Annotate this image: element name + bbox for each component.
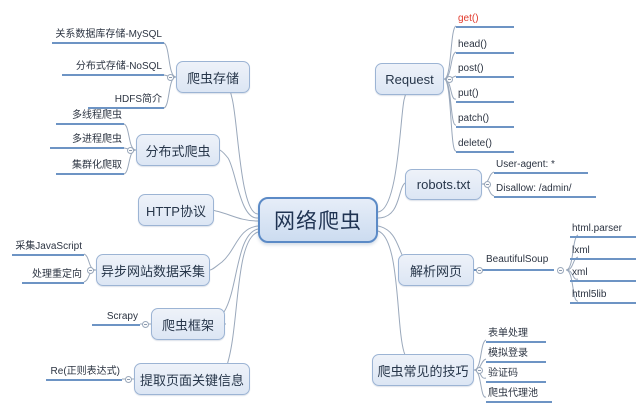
leaf-html-parser[interactable]: html.parser bbox=[570, 224, 636, 238]
mindmap-canvas: 网络爬虫 爬虫存储 关系数据库存储-MySQL 分布式存储-NoSQL HDFS… bbox=[0, 0, 640, 419]
leaf-get-method[interactable]: get() bbox=[456, 14, 514, 28]
collapse-handle-icon[interactable] bbox=[446, 76, 453, 83]
center-node-label: 网络爬虫 bbox=[274, 205, 362, 235]
branch-node-robots-txt[interactable]: robots.txt bbox=[405, 169, 482, 200]
branch-label: 解析网页 bbox=[410, 261, 462, 280]
leaf-delete-method[interactable]: delete() bbox=[456, 139, 514, 153]
leaf-cluster-crawling[interactable]: 集群化爬取 bbox=[56, 161, 124, 175]
collapse-handle-icon[interactable] bbox=[484, 181, 491, 188]
leaf-xml[interactable]: xml bbox=[570, 268, 636, 282]
collapse-handle-icon[interactable] bbox=[125, 376, 132, 383]
collapse-handle-icon[interactable] bbox=[142, 321, 149, 328]
collapse-handle-icon[interactable] bbox=[127, 147, 134, 154]
leaf-post-method[interactable]: post() bbox=[456, 64, 514, 78]
branch-label: 爬虫框架 bbox=[162, 315, 214, 334]
leaf-simulated-login[interactable]: 模拟登录 bbox=[486, 349, 546, 363]
leaf-put-method[interactable]: put() bbox=[456, 89, 514, 103]
branch-label: Request bbox=[385, 72, 433, 87]
collapse-handle-icon[interactable] bbox=[167, 74, 174, 81]
collapse-handle-icon[interactable] bbox=[87, 267, 94, 274]
leaf-scrapy[interactable]: Scrapy bbox=[92, 312, 140, 326]
branch-label: 异步网站数据采集 bbox=[101, 261, 205, 280]
branch-label: 爬虫存储 bbox=[187, 68, 239, 87]
collapse-handle-icon[interactable] bbox=[476, 267, 483, 274]
branch-node-extract-key-info[interactable]: 提取页面关键信息 bbox=[134, 363, 250, 395]
branch-label: HTTP协议 bbox=[146, 201, 206, 220]
collapse-handle-icon[interactable] bbox=[557, 267, 564, 274]
center-node[interactable]: 网络爬虫 bbox=[258, 197, 378, 243]
branch-label: robots.txt bbox=[417, 177, 470, 192]
branch-label: 分布式爬虫 bbox=[145, 141, 210, 160]
branch-node-request[interactable]: Request bbox=[375, 63, 444, 95]
branch-node-crawler-storage[interactable]: 爬虫存储 bbox=[176, 61, 250, 93]
leaf-hdfs-intro[interactable]: HDFS简介 bbox=[88, 95, 164, 109]
leaf-multiprocess-crawler[interactable]: 多进程爬虫 bbox=[50, 135, 124, 149]
branch-node-crawler-framework[interactable]: 爬虫框架 bbox=[151, 308, 225, 340]
branch-label: 提取页面关键信息 bbox=[140, 370, 244, 389]
branch-node-common-techniques[interactable]: 爬虫常见的技巧 bbox=[372, 354, 474, 386]
leaf-disallow[interactable]: Disallow: /admin/ bbox=[494, 184, 596, 198]
branch-node-http-protocol[interactable]: HTTP协议 bbox=[138, 194, 214, 226]
leaf-patch-method[interactable]: patch() bbox=[456, 114, 514, 128]
collapse-handle-icon[interactable] bbox=[476, 367, 483, 374]
leaf-proxy-pool[interactable]: 爬虫代理池 bbox=[486, 389, 552, 403]
leaf-lxml[interactable]: lxml bbox=[570, 246, 636, 260]
leaf-nosql-storage[interactable]: 分布式存储-NoSQL bbox=[62, 62, 164, 76]
branch-node-distributed-crawler[interactable]: 分布式爬虫 bbox=[136, 134, 220, 166]
leaf-mysql-storage[interactable]: 关系数据库存储-MySQL bbox=[52, 30, 164, 44]
leaf-head-method[interactable]: head() bbox=[456, 40, 514, 54]
leaf-multithread-crawler[interactable]: 多线程爬虫 bbox=[56, 111, 124, 125]
leaf-handle-redirect[interactable]: 处理重定向 bbox=[22, 270, 84, 284]
leaf-collect-javascript[interactable]: 采集JavaScript bbox=[12, 242, 84, 256]
leaf-captcha[interactable]: 验证码 bbox=[486, 369, 546, 383]
branch-node-parse-webpage[interactable]: 解析网页 bbox=[398, 254, 474, 286]
leaf-form-handling[interactable]: 表单处理 bbox=[486, 329, 546, 343]
label-beautifulsoup[interactable]: BeautifulSoup bbox=[486, 254, 548, 265]
branch-node-async-site-scraping[interactable]: 异步网站数据采集 bbox=[96, 254, 210, 286]
leaf-html5lib[interactable]: html5lib bbox=[570, 290, 636, 304]
leaf-regex[interactable]: Re(正则表达式) bbox=[46, 367, 122, 381]
leaf-user-agent[interactable]: User-agent: * bbox=[494, 160, 588, 174]
branch-label: 爬虫常见的技巧 bbox=[377, 361, 468, 380]
